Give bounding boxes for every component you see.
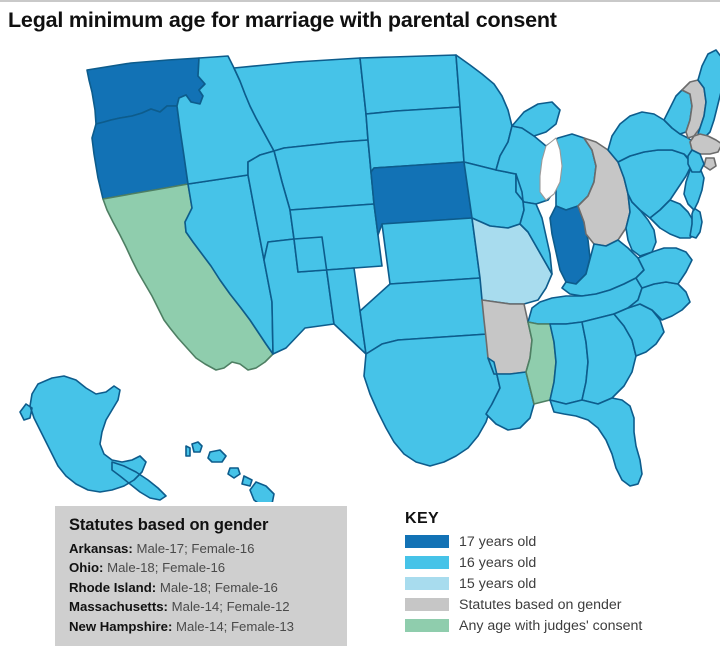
statutes-based-on-gender-box: Statutes based on gender Arkansas: Male-… xyxy=(55,506,347,646)
state-TX[interactable] xyxy=(364,334,500,466)
statutes-row-new-hampshire: New Hampshire: Male-14; Female-13 xyxy=(69,617,337,636)
legend-label-16: 16 years old xyxy=(459,555,536,571)
legend-label-15: 15 years old xyxy=(459,576,536,592)
legend-swatch-judges xyxy=(405,619,449,632)
state-ND[interactable] xyxy=(360,55,460,114)
statutes-state-name: Rhode Island: xyxy=(69,580,156,595)
state-AL[interactable] xyxy=(550,322,588,404)
legend-item-gender: Statutes based on gender xyxy=(405,594,705,615)
map-svg xyxy=(0,32,720,502)
statutes-row-ohio: Ohio: Male-18; Female-16 xyxy=(69,558,337,577)
statutes-state-detail: Male-14; Female-12 xyxy=(172,599,290,614)
statutes-state-name: Ohio: xyxy=(69,560,103,575)
state-AK[interactable] xyxy=(20,376,166,500)
state-DE[interactable] xyxy=(690,208,702,238)
legend-label-judges: Any age with judges' consent xyxy=(459,618,642,634)
state-KS[interactable] xyxy=(382,218,480,284)
statutes-row-rhode-island: Rhode Island: Male-18; Female-16 xyxy=(69,578,337,597)
statutes-state-name: Arkansas: xyxy=(69,541,133,556)
statutes-state-name: New Hampshire: xyxy=(69,619,172,634)
state-FL[interactable] xyxy=(550,398,642,486)
legend-label-17: 17 years old xyxy=(459,534,536,550)
statutes-state-detail: Male-18; Female-16 xyxy=(107,560,225,575)
statutes-state-detail: Male-18; Female-16 xyxy=(160,580,278,595)
legend-swatch-17 xyxy=(405,535,449,548)
legend-swatch-gender xyxy=(405,598,449,611)
legend-item-15: 15 years old xyxy=(405,573,705,594)
statutes-row-massachusetts: Massachusetts: Male-14; Female-12 xyxy=(69,597,337,616)
statutes-heading: Statutes based on gender xyxy=(69,516,337,535)
state-WY[interactable] xyxy=(274,140,374,210)
statutes-state-detail: Male-17; Female-16 xyxy=(136,541,254,556)
page-title: Legal minimum age for marriage with pare… xyxy=(8,8,714,33)
state-RI[interactable] xyxy=(704,158,716,170)
state-HI[interactable] xyxy=(186,442,274,502)
legend-heading: KEY xyxy=(405,510,705,528)
infographic-page: Legal minimum age for marriage with pare… xyxy=(0,0,720,652)
legend-item-16: 16 years old xyxy=(405,552,705,573)
legend-label-gender: Statutes based on gender xyxy=(459,597,622,613)
statutes-row-arkansas: Arkansas: Male-17; Female-16 xyxy=(69,539,337,558)
statutes-state-name: Massachusetts: xyxy=(69,599,168,614)
legend-swatch-16 xyxy=(405,556,449,569)
us-choropleth-map xyxy=(0,32,720,502)
legend-item-17: 17 years old xyxy=(405,531,705,552)
legend-swatch-15 xyxy=(405,577,449,590)
legend-item-judges: Any age with judges' consent xyxy=(405,615,705,636)
statutes-state-detail: Male-14; Female-13 xyxy=(176,619,294,634)
map-legend: KEY 17 years old 16 years old 15 years o… xyxy=(405,510,705,636)
